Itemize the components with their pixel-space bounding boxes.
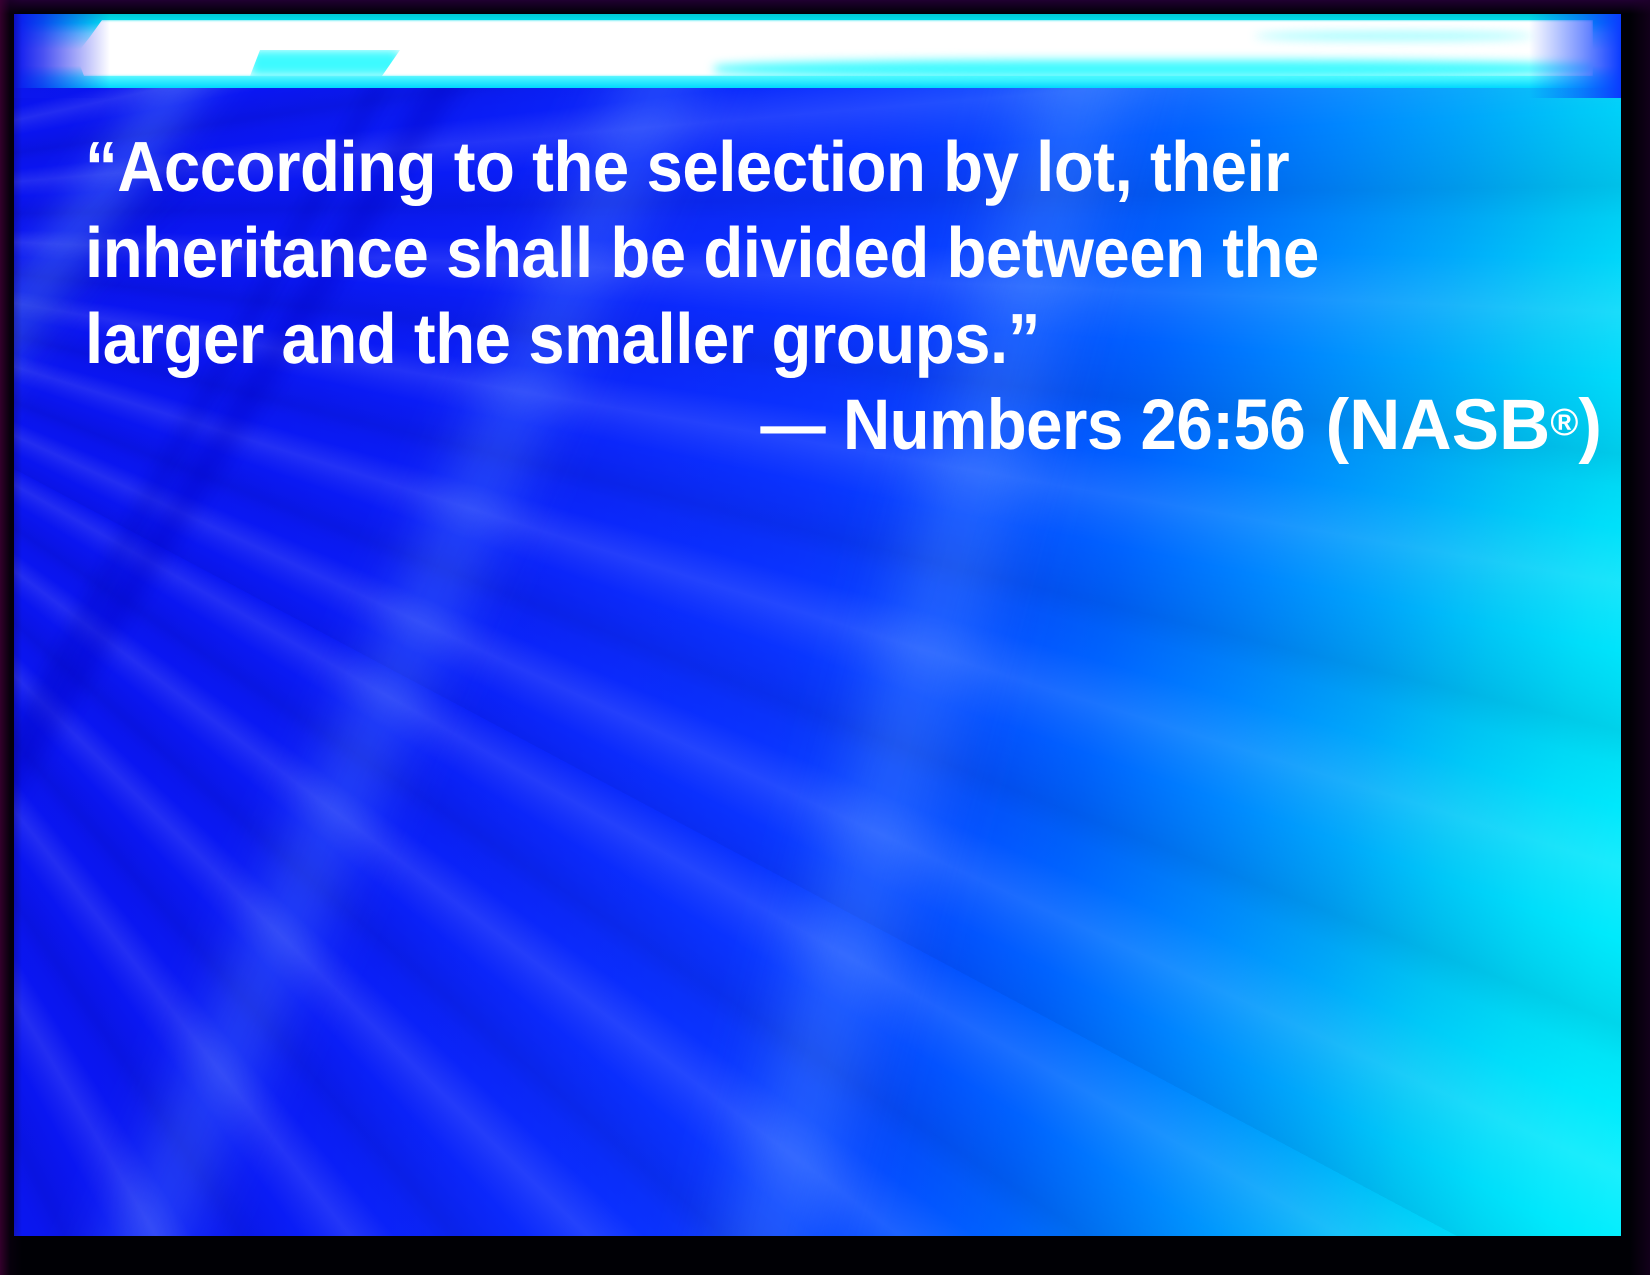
attribution-reference: — Numbers 26:56 [761,390,1306,461]
attribution-close-paren: ) [1578,386,1602,465]
attribution-book-chapter-verse: Numbers 26:56 [843,386,1305,465]
registered-trademark-icon: ® [1550,402,1578,444]
banner-left-fade [14,14,110,98]
attribution-open-paren: ( [1326,386,1350,465]
banner-right-fade [1529,14,1621,98]
attribution-translation: NASB [1349,386,1550,465]
top-glow-banner [14,14,1621,98]
slide-canvas: “According to the selection by lot, thei… [14,14,1621,1236]
banner-wisp-right [714,60,1594,78]
attribution-version-group: (NASB®) [1306,386,1602,465]
verse-line-3: larger and the smaller groups.” [85,304,1040,375]
verse-line-2: inheritance shall be divided between the [85,218,1319,289]
banner-wisp-left [250,50,400,76]
verse-line-1: “According to the selection by lot, thei… [85,132,1289,203]
attribution-dash: — [761,386,826,465]
banner-wisp-far [1254,32,1534,40]
verse-attribution: — Numbers 26:56 (NASB®) [713,390,1602,461]
slide-frame: “According to the selection by lot, thei… [0,0,1650,1275]
